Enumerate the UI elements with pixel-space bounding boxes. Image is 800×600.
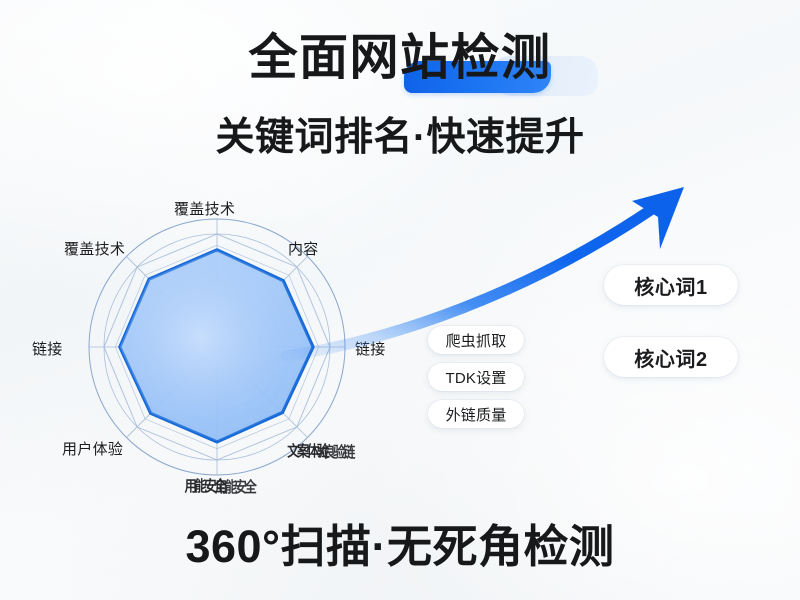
subheadline-block: 关键词排名·快速提升 <box>0 118 800 157</box>
radar-axis-label-left: 链接 <box>32 338 63 359</box>
tag-keyword-2-label: 核心词2 <box>634 343 708 372</box>
tag-keyword-2[interactable]: 核心词2 <box>604 337 738 377</box>
radar-data-series <box>120 250 313 442</box>
tag-keyword-1-label: 核心词1 <box>634 271 708 300</box>
page-title: 全面网站检测 <box>248 34 551 83</box>
tag-keyword-1[interactable]: 核心词1 <box>604 265 738 305</box>
tag-crawl[interactable]: 爬虫抓取 <box>428 326 524 354</box>
page-title-text: 全面网站检测 <box>248 31 551 85</box>
footer-block: 360°扫描·无死角检测 <box>0 524 800 569</box>
radar-axis-label-bottom-right: 文案体验X良验链 <box>287 440 353 461</box>
tag-tdk[interactable]: TDK设置 <box>428 363 524 391</box>
radar-axis-label-top: 覆盖技术 <box>174 198 235 219</box>
footer-tagline: 360°扫描·无死角检测 <box>185 524 614 569</box>
arrow-head <box>632 187 684 249</box>
tag-crawl-label: 爬虫抓取 <box>446 330 507 351</box>
tag-outlink[interactable]: 外链质量 <box>428 400 524 428</box>
radar-axis-label-bottom-overlay: 用能安全 <box>215 476 254 497</box>
radar-chart: 覆盖技术 内容 链接 文案体验X良验链 用能安全用能安全 用户体验 链接 覆盖技… <box>30 190 450 510</box>
radar-axis-label-top-left: 覆盖技术 <box>64 238 125 259</box>
tag-tdk-label: TDK设置 <box>445 367 506 388</box>
radar-axis-label-top-right: 内容 <box>288 238 319 259</box>
radar-axis-label-bottom-left: 用户体验 <box>62 438 123 459</box>
poster-canvas: 全面网站检测 关键词排名·快速提升 <box>0 0 800 600</box>
radar-axis-label-bottom: 用能安全用能安全 <box>185 475 255 496</box>
page-subtitle: 关键词排名·快速提升 <box>216 118 585 157</box>
radar-axis-label-bottom-right-overlay: X良验链 <box>318 441 353 462</box>
tag-outlink-label: 外链质量 <box>446 404 507 425</box>
radar-axis-label-right: 链接 <box>355 338 386 359</box>
headline-block: 全面网站检测 <box>0 34 800 83</box>
